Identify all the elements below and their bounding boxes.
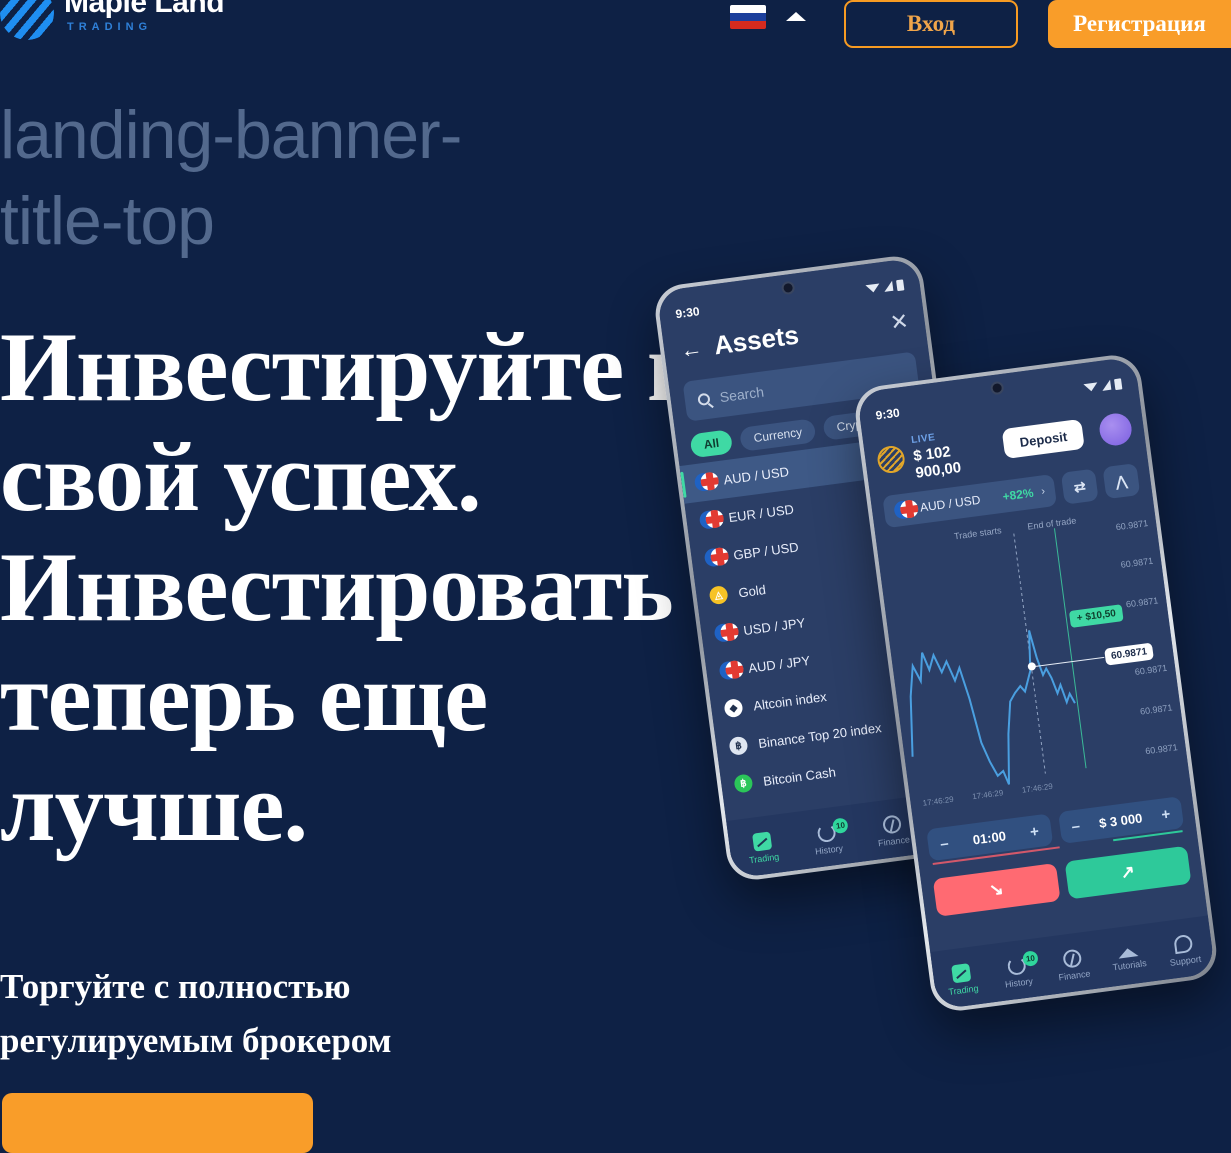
tab-trading[interactable]: Trading <box>934 960 990 998</box>
avatar[interactable] <box>1098 411 1134 447</box>
battery-icon <box>896 279 904 291</box>
chip-currency[interactable]: Currency <box>739 418 816 452</box>
signal-icon <box>1101 380 1111 391</box>
amount-minus[interactable]: – <box>1070 817 1080 835</box>
tab-label: Tutorials <box>1112 958 1147 972</box>
signal-icon <box>883 281 893 292</box>
amount-plus[interactable]: + <box>1160 805 1171 823</box>
account-mode[interactable]: LIVE <box>911 432 936 446</box>
flag-pair-icon <box>718 660 738 680</box>
amount-value: $ 3 000 <box>1098 810 1143 831</box>
bitcoin-cash-icon: ฿ <box>733 773 753 793</box>
bottom-navigation: Trading 10 History Finance Tutorials <box>930 916 1215 1010</box>
instrument-name: AUD / USD <box>919 491 995 515</box>
support-icon <box>1173 933 1193 953</box>
header-actions: Вход Регистрация <box>730 0 1231 51</box>
buy-up-button[interactable]: ↗ <box>1064 846 1191 900</box>
deposit-button[interactable]: Deposit <box>1002 419 1085 459</box>
missing-translation-key: landing-banner-title-top <box>0 92 560 264</box>
tab-trading[interactable]: Trading <box>735 829 791 867</box>
wifi-icon <box>1083 382 1098 392</box>
phone-trading-mockup: 9:30 LIVE $ 102 900,00 Deposit <box>852 352 1220 1014</box>
tab-history[interactable]: 10 History <box>990 953 1046 991</box>
trading-screen: 9:30 LIVE $ 102 900,00 Deposit <box>857 356 1216 1009</box>
chevron-up-icon[interactable] <box>786 12 806 21</box>
tutorials-icon <box>1118 947 1139 959</box>
tab-label: Trading <box>748 851 779 865</box>
finance-icon <box>882 814 902 834</box>
finance-icon <box>1062 948 1082 968</box>
history-badge: 10 <box>1022 950 1039 967</box>
brand-logo[interactable]: Maple Land TRADING <box>0 0 224 40</box>
tab-label: History <box>814 843 843 857</box>
striped-circle-logo-icon <box>0 0 54 40</box>
register-button[interactable]: Регистрация <box>1048 0 1231 48</box>
account-coin-icon <box>876 444 906 474</box>
hero-cta-button[interactable] <box>2 1093 313 1153</box>
trading-icon <box>951 963 971 983</box>
flag-pair-icon <box>694 472 714 492</box>
login-button[interactable]: Вход <box>844 0 1018 48</box>
site-header: Maple Land TRADING Вход Регистрация <box>0 0 1231 51</box>
tab-label: Support <box>1169 953 1202 967</box>
language-selector[interactable] <box>730 5 806 29</box>
tab-tutorials[interactable]: Tutorials <box>1101 941 1156 974</box>
hero-subtitle: Торгуйте с полностью регулируемым брокер… <box>0 960 520 1068</box>
binance-icon: ฿ <box>728 736 748 756</box>
assets-title: Assets <box>712 309 880 361</box>
duration-minus[interactable]: – <box>939 834 949 852</box>
battery-icon <box>1114 378 1122 390</box>
search-placeholder: Search <box>719 384 765 406</box>
hero-section: landing-banner-title-top <box>0 92 760 264</box>
tab-label: Finance <box>877 834 910 848</box>
sell-down-button[interactable]: ↘ <box>933 863 1060 917</box>
page-title: Инвестируйте в свой успех. Инвестировать… <box>0 313 700 863</box>
indicators-button[interactable]: ⋀ <box>1102 463 1140 499</box>
chevron-right-icon: › <box>1041 485 1046 497</box>
brand-name: Maple Land <box>64 0 224 18</box>
tab-support[interactable]: Support <box>1156 931 1212 969</box>
back-arrow-icon[interactable]: ← <box>679 337 704 362</box>
tab-label: Trading <box>948 983 979 997</box>
duration-value: 01:00 <box>972 828 1007 847</box>
status-time: 9:30 <box>675 304 701 321</box>
brand-text: Maple Land TRADING <box>64 0 224 36</box>
russia-flag-icon <box>730 5 766 29</box>
chip-all[interactable]: All <box>689 429 733 458</box>
tab-label: Finance <box>1058 968 1091 982</box>
wifi-icon <box>865 283 880 293</box>
status-time: 9:30 <box>875 406 901 423</box>
search-icon <box>697 393 710 406</box>
trading-icon <box>752 831 772 851</box>
tab-label: History <box>1004 976 1033 990</box>
altcoin-icon: ◆ <box>723 698 743 718</box>
close-icon[interactable]: ✕ <box>889 310 910 334</box>
flag-pair-icon <box>893 500 913 520</box>
flag-pair-icon <box>713 623 733 643</box>
gold-icon: ◬ <box>709 585 729 605</box>
chart-settings-button[interactable]: ⇄ <box>1061 469 1099 505</box>
brand-tagline: TRADING <box>64 18 224 36</box>
price-chart: Trade starts End of trade 60.9871 60.987… <box>876 503 1191 827</box>
tab-finance[interactable]: Finance <box>1045 946 1101 984</box>
tab-history[interactable]: 10 History <box>800 820 856 858</box>
flag-pair-icon <box>699 510 719 530</box>
phone-mockups: 9:30 ← Assets ✕ Search <box>660 250 1231 1030</box>
payout-percent: +82% <box>1002 486 1035 504</box>
history-badge: 10 <box>832 817 849 834</box>
duration-plus[interactable]: + <box>1029 822 1040 840</box>
flag-pair-icon <box>704 547 724 567</box>
